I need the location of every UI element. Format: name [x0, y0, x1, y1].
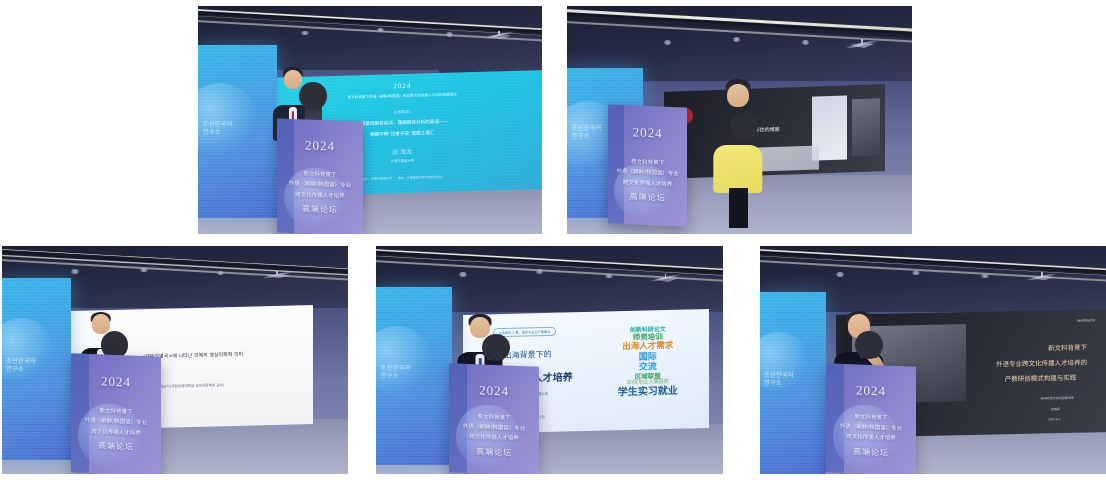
podium: 2024 新文科背景下 外语（朝鲜/韩国语）专业 跨文化传播人才培养 高端论坛 [449, 363, 539, 474]
slide-presenter-org: 扬州师范大学外国语学院 [1041, 396, 1074, 401]
microphone-icon [487, 339, 504, 360]
side-led-text: 조선한국어 연구소 [381, 365, 450, 381]
ceiling-fan-icon [650, 274, 681, 283]
head [470, 317, 490, 339]
podium-text: 新文科背景下 外语（朝鲜/韩国语）专业 跨文化传播人才培养 高端论坛 [452, 411, 535, 462]
podium: 2024 新文科背景下 外语（朝鲜/韩国语）专业 跨文化传播人才培养 高端论坛 [608, 105, 687, 227]
head [727, 84, 749, 108]
downlight-icon [217, 271, 225, 275]
side-led-panel: 조선한국어 연구소 [760, 292, 826, 474]
podium-line-3: 跨文化传播人才培养 [469, 434, 519, 442]
podium: 2024 新文科背景下 外语（朝鲜/韩国语）专业 跨文化传播人才培养 高端论坛 [71, 354, 161, 474]
ceiling-fan-icon [1026, 272, 1057, 281]
led-orb-graphic [376, 326, 432, 396]
led-orb-graphic [198, 83, 257, 156]
slide-photo-panel [851, 98, 880, 156]
downlight-icon [981, 274, 989, 278]
slide-wordcloud: 创新科研论文 师资培训 出海人才需求 国际 交流 区域联盟 双创/职业大赛获奖 … [593, 326, 701, 399]
podium-line-3: 跨文化传播人才培养 [295, 192, 345, 200]
podium-line-1: 新文科背景下 [477, 414, 510, 421]
wordcloud-item: 学生实习就业 [593, 385, 701, 399]
podium-year: 2024 [449, 380, 539, 399]
side-led-panel: 조선한국어 연구소 [376, 287, 452, 465]
podium: 2024 新文科背景下 外语（朝鲜/韩国语）专业 跨文化传播人才培养 高端论坛 [277, 118, 363, 234]
podium-line-4: 高端论坛 [452, 444, 535, 462]
podium-line-2: 外语（朝鲜/韩国语）专业 [463, 424, 525, 432]
photo-3-speaker-korean-slide[interactable]: <채봉감별곡>에 나타난 의복의 영상미학적 의미 김남석(국립부경대학교 국어… [2, 246, 348, 474]
podium-year: 2024 [277, 137, 363, 156]
side-led-text: 조선한국어 연구소 [203, 121, 274, 137]
led-orb-graphic [2, 318, 53, 382]
downlight-icon [664, 40, 672, 44]
lower-body-trousers [729, 188, 747, 228]
microphone-icon [860, 337, 877, 358]
slide-date: 2024.6.1 [1048, 417, 1060, 421]
podium-text: 新文科背景下 外语（朝鲜/韩国语）专业 跨文化传播人才培养 高端论坛 [612, 157, 685, 207]
podium-line-4: 高端论坛 [281, 201, 360, 219]
downlight-icon [301, 31, 309, 35]
led-orb-graphic [760, 332, 809, 392]
downlight-icon [733, 37, 741, 41]
stage-scene: <채봉감별곡>에 나타난 의복의 영상미학적 의미 김남석(국립부경대학교 국어… [2, 246, 348, 474]
photo-4-speaker-wordcloud-slide[interactable]: 主旨报告 2 题：高校与企业产教融合 企业出海背景下的 跨文化传播人才培养 上海… [376, 246, 723, 474]
podium-line-4: 高端论坛 [829, 444, 912, 462]
ceiling-fan-icon [846, 39, 877, 50]
podium-line-2: 外语（朝鲜/韩国语）专业 [617, 169, 679, 178]
podium-line-1: 新文科背景下 [854, 414, 887, 421]
downlight-icon [459, 272, 467, 277]
downlight-icon [605, 274, 613, 279]
podium-text: 新文科背景下 外语（朝鲜/韩国语）专业 跨文化传播人才培养 高端论坛 [75, 406, 158, 456]
podium-text: 新文科背景下 外语（朝鲜/韩国语）专业 跨文化传播人才培养 高端论坛 [829, 411, 912, 461]
side-led-text: 조선한국어 연구소 [764, 372, 823, 388]
ceiling-fan-icon [484, 31, 515, 40]
downlight-icon [836, 272, 844, 276]
downlight-icon [912, 271, 920, 275]
podium-line-2: 外语（朝鲜/韩国语）专业 [289, 181, 351, 189]
downlight-icon [802, 40, 810, 44]
stage-scene: 传播效能评估的维度 조선한국어 연구소 [567, 6, 912, 234]
podium-line-3: 跨文化传播人才培养 [91, 429, 141, 437]
side-led-panel: 조선한국어 연구소 [2, 278, 71, 460]
side-led-text: 조선한국어 연구소 [6, 358, 68, 374]
podium-line-2: 外语（朝鲜/韩国语）专业 [840, 424, 902, 432]
podium-line-2: 外语（朝鲜/韩国语）专业 [85, 419, 147, 427]
photo-1-keynote-speaker-podium[interactable]: 2024 新文科背景下外语（朝鲜/韩国语）专业跨文化传播人才培养高端论坛 主旨发… [198, 6, 542, 234]
slide-presenter: 金晓军 [1051, 407, 1060, 411]
downlight-icon [536, 269, 544, 274]
torso-yellow-blazer [713, 145, 762, 192]
slide-title-2: 外语专业跨文化传播人才培养的 [996, 356, 1087, 368]
main-led-screen: 传播效能评估的维度 [664, 84, 885, 178]
slide-title-1: 新文科背景下 [1048, 342, 1087, 353]
stage-scene: 主旨报告 2 题：高校与企业产教融合 企业出海背景下的 跨文化传播人才培养 上海… [376, 246, 723, 474]
photo-5-speaker-dark-slide[interactable]: 扬州师范大学 新文科背景下 外语专业跨文化传播人才培养的 产教研创模式构建与实践… [760, 246, 1106, 474]
podium-line-3: 跨文化传播人才培养 [846, 434, 896, 442]
ceiling-fan-icon [262, 271, 293, 280]
stage-scene: 扬州师范大学 新文科背景下 外语专业跨文化传播人才培养的 产教研创模式构建与实践… [760, 246, 1106, 474]
slide-title-3: 产教研创模式构建与实践 [1005, 371, 1077, 382]
podium-text: 新文科背景下 外语（朝鲜/韩国语）专业 跨文化传播人才培养 高端论坛 [281, 169, 360, 219]
downlight-icon [71, 269, 79, 273]
podium-line-1: 新文科背景下 [632, 160, 665, 167]
downlight-icon [446, 32, 454, 36]
podium-line-1: 新文科背景下 [304, 172, 337, 179]
stage-scene: 2024 新文科背景下外语（朝鲜/韩国语）专业跨文化传播人才培养高端论坛 主旨发… [198, 6, 542, 234]
head [92, 314, 110, 333]
speaker-person [719, 84, 757, 203]
podium-line-1: 新文科背景下 [100, 409, 133, 416]
podium-line-3: 跨文化传播人才培养 [623, 180, 673, 188]
podium-year: 2024 [826, 380, 916, 399]
microphone-icon [736, 118, 753, 139]
photo-2-female-speaker-standing[interactable]: 传播效能评估的维度 조선한국어 연구소 [567, 6, 912, 234]
slide-logo: 扬州师范大学 [1077, 318, 1095, 322]
downlight-icon [140, 268, 148, 272]
side-led-panel: 조선한국어 연구소 [198, 45, 277, 218]
head [284, 70, 302, 89]
photo-grid: 2024 新文科背景下外语（朝鲜/韩国语）专业跨文化传播人才培养高端论坛 主旨发… [0, 0, 1106, 480]
podium: 2024 新文科背景下 外语（朝鲜/韩国语）专业 跨文化传播人才培养 高端论坛 [826, 363, 916, 474]
